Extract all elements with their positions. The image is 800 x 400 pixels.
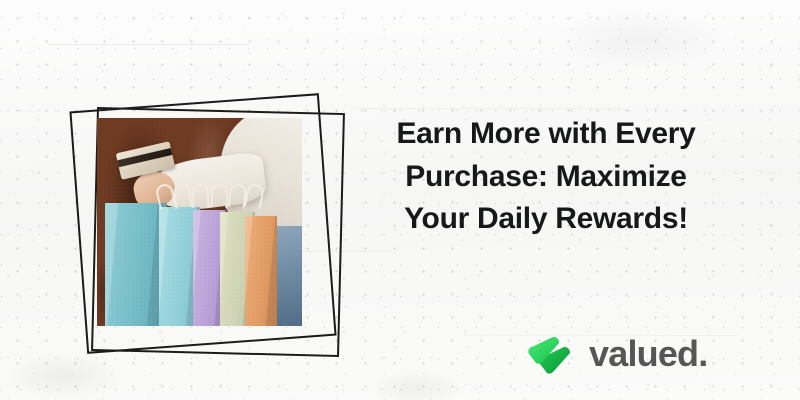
photo-grain-overlay xyxy=(97,118,302,326)
logo-wordmark: valued. xyxy=(589,336,707,372)
green-block-right xyxy=(766,220,800,291)
shopping-photo xyxy=(97,118,302,326)
promotional-banner: Earn More with Every Purchase: Maximize … xyxy=(0,0,800,400)
headline-line-3: Your Daily Rewards! xyxy=(368,198,724,241)
headline-line-1: Earn More with Every xyxy=(368,113,724,156)
headline: Earn More with Every Purchase: Maximize … xyxy=(368,113,724,241)
valued-stacked-parallelogram-logo xyxy=(524,329,574,379)
framed-photo-composition xyxy=(72,92,342,360)
brand-logo-lockup: valued. xyxy=(524,329,707,379)
headline-line-2: Purchase: Maximize xyxy=(368,156,724,199)
